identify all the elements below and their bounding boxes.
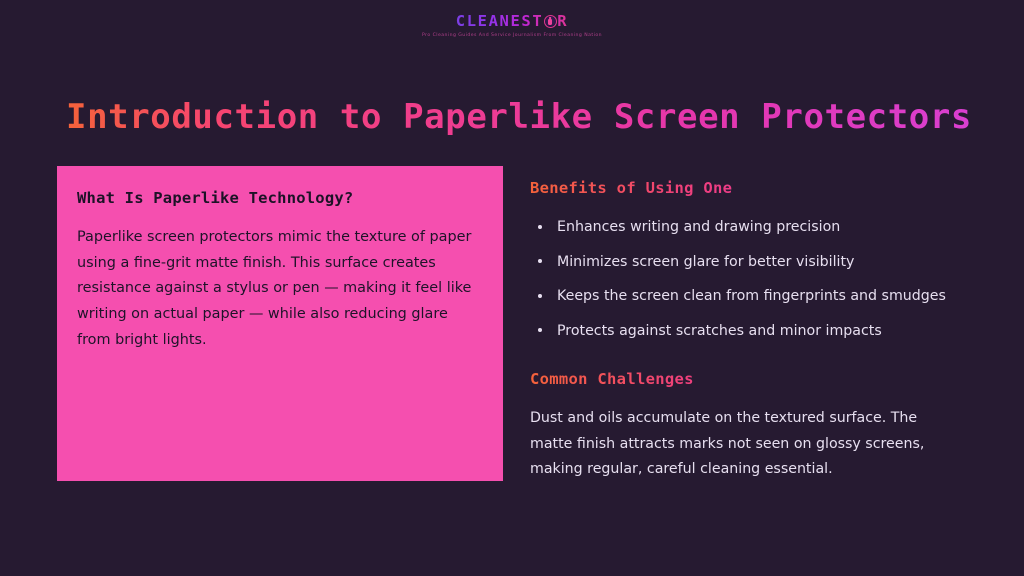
list-item: Minimizes screen glare for better visibi… (530, 251, 982, 273)
bullet-dot-icon (538, 328, 542, 332)
page-title: Introduction to Paperlike Screen Protect… (66, 96, 972, 139)
list-item: Keeps the screen clean from fingerprints… (530, 285, 982, 307)
challenges-heading: Common Challenges (530, 369, 982, 389)
card-body-text: Paperlike screen protectors mimic the te… (77, 225, 481, 353)
brand-name-part1: CLEANEST (456, 14, 543, 30)
list-item-label: Minimizes screen glare for better visibi… (557, 254, 854, 270)
list-item: Protects against scratches and minor imp… (530, 320, 982, 342)
spray-bottle-icon (544, 15, 557, 28)
right-column: Benefits of Using One Enhances writing a… (530, 178, 982, 483)
benefits-heading: Benefits of Using One (530, 178, 982, 198)
bullet-dot-icon (538, 294, 542, 298)
benefits-list: Enhances writing and drawing precision M… (530, 216, 982, 342)
brand-logo[interactable]: CLEANEST R Pro Cleaning Guides And Servi… (0, 14, 1024, 38)
brand-name-part2: R (557, 14, 568, 30)
challenges-body-text: Dust and oils accumulate on the textured… (530, 406, 950, 484)
card-heading: What Is Paperlike Technology? (77, 188, 481, 208)
bullet-dot-icon (538, 259, 542, 263)
brand-tagline: Pro Cleaning Guides And Service Journali… (422, 33, 602, 38)
list-item-label: Enhances writing and drawing precision (557, 219, 840, 235)
list-item-label: Keeps the screen clean from fingerprints… (557, 288, 946, 304)
paperlike-technology-card: What Is Paperlike Technology? Paperlike … (57, 166, 503, 481)
list-item-label: Protects against scratches and minor imp… (557, 323, 882, 339)
bullet-dot-icon (538, 225, 542, 229)
brand-wordmark: CLEANEST R (456, 14, 568, 30)
list-item: Enhances writing and drawing precision (530, 216, 982, 238)
